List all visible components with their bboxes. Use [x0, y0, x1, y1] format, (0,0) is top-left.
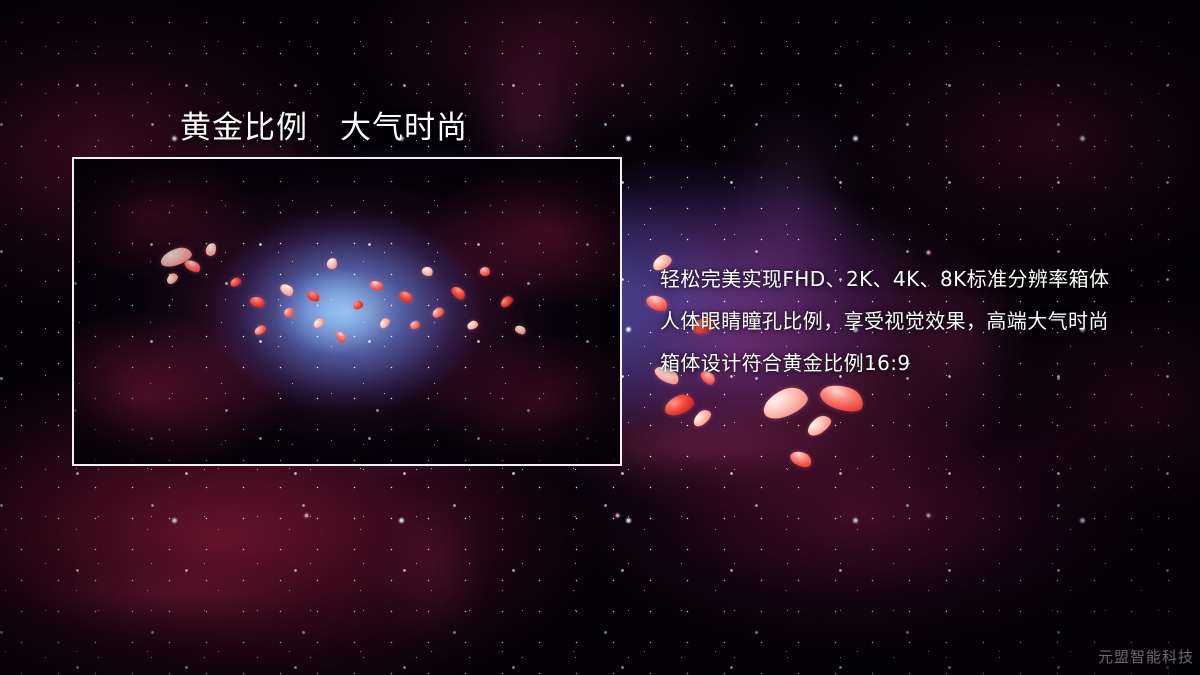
watermark-label: 元盟智能科技 — [1098, 646, 1194, 667]
page-title: 黄金比例 大气时尚 — [180, 102, 468, 147]
framed-galaxy-image — [72, 157, 622, 466]
body-line-1: 轻松完美实现FHD、2K、4K、8K标准分辨率箱体 — [660, 258, 1109, 300]
body-text-block: 轻松完美实现FHD、2K、4K、8K标准分辨率箱体 人体眼睛瞳孔比例，享受视觉效… — [660, 258, 1109, 384]
framed-image-vignette — [74, 159, 620, 464]
body-line-2: 人体眼睛瞳孔比例，享受视觉效果，高端大气时尚 — [660, 300, 1109, 342]
body-line-3: 箱体设计符合黄金比例16:9 — [660, 342, 1109, 384]
presentation-slide: 黄金比例 大气时尚 轻松完美实现FHD、2K、4K、8K标准分辨率箱体 人体眼睛… — [0, 0, 1200, 675]
